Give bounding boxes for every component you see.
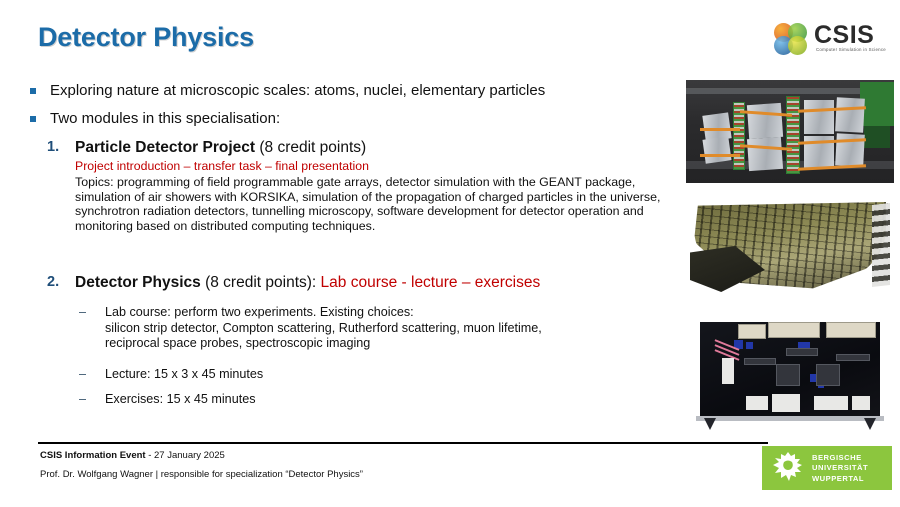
module-credits: (8 credit points) bbox=[255, 139, 366, 156]
dash-bullet-icon: – bbox=[79, 305, 86, 321]
photo-vme-board bbox=[686, 312, 894, 430]
sub-item-line: Exercises: 15 x 45 minutes bbox=[105, 392, 505, 408]
dash-bullet-icon: – bbox=[79, 392, 86, 408]
square-bullet-icon bbox=[30, 116, 36, 122]
footer-event-date: - 27 January 2025 bbox=[146, 450, 225, 461]
module-item-1: 1. Particle Detector Project (8 credit p… bbox=[75, 139, 690, 233]
buw-logo: BERGISCHE UNIVERSITÄT WUPPERTAL bbox=[762, 446, 892, 490]
photo-detector-module bbox=[686, 80, 894, 183]
module-credits: (8 credit points): bbox=[201, 274, 321, 291]
csis-wordmark: CSIS bbox=[814, 21, 874, 50]
footer-line-1: CSIS Information Event - 27 January 2025 bbox=[40, 450, 225, 461]
page-title: Detector Physics bbox=[38, 22, 254, 53]
module-heading: Detector Physics (8 credit points): Lab … bbox=[75, 274, 690, 292]
module-heading: Particle Detector Project (8 credit poin… bbox=[75, 139, 690, 157]
sub-item-line: Lecture: 15 x 3 x 45 minutes bbox=[105, 367, 505, 383]
footer-event-name: CSIS Information Event bbox=[40, 450, 146, 461]
square-bullet-icon bbox=[30, 88, 36, 94]
footer-divider bbox=[38, 442, 768, 444]
module-name: Particle Detector Project bbox=[75, 139, 255, 156]
sub-item-exercises: – Exercises: 15 x 45 minutes bbox=[105, 392, 505, 408]
buw-line-2: UNIVERSITÄT bbox=[812, 463, 868, 473]
bullet-text: Two modules in this specialisation: bbox=[50, 110, 280, 127]
module-subtitle: Project introduction – transfer task – f… bbox=[75, 159, 690, 173]
module-highlight: Lab course - lecture – exercises bbox=[321, 274, 541, 291]
buw-line-1: BERGISCHE bbox=[812, 453, 868, 463]
buw-wordmark: BERGISCHE UNIVERSITÄT WUPPERTAL bbox=[812, 453, 868, 484]
sub-item-lecture: – Lecture: 15 x 3 x 45 minutes bbox=[105, 367, 505, 383]
csis-circles-icon bbox=[774, 23, 810, 57]
module-number: 1. bbox=[47, 139, 59, 155]
csis-logo: CSIS Computer Simulation in Science bbox=[772, 20, 892, 62]
lion-emblem-icon bbox=[770, 451, 806, 485]
slide: Detector Physics CSIS Computer Simulatio… bbox=[0, 0, 900, 507]
sub-item-line: reciprocal space probes, spectroscopic i… bbox=[105, 336, 665, 352]
footer-line-2: Prof. Dr. Wolfgang Wagner | responsible … bbox=[40, 469, 363, 480]
sub-item-lab-course: – Lab course: perform two experiments. E… bbox=[105, 305, 665, 352]
sub-item-line: silicon strip detector, Compton scatteri… bbox=[105, 321, 665, 337]
bullet-item-1: Exploring nature at microscopic scales: … bbox=[50, 82, 545, 99]
dash-bullet-icon: – bbox=[79, 367, 86, 383]
photo-detector-barrel bbox=[686, 196, 894, 299]
module-item-2: 2. Detector Physics (8 credit points): L… bbox=[75, 274, 690, 292]
bullet-item-2: Two modules in this specialisation: bbox=[50, 110, 280, 127]
bullet-text: Exploring nature at microscopic scales: … bbox=[50, 82, 545, 99]
module-paragraph: Topics: programming of field programmabl… bbox=[75, 175, 675, 233]
module-number: 2. bbox=[47, 274, 59, 290]
sub-item-line: Lab course: perform two experiments. Exi… bbox=[105, 305, 665, 321]
module-name: Detector Physics bbox=[75, 274, 201, 291]
buw-line-3: WUPPERTAL bbox=[812, 474, 868, 484]
csis-tagline: Computer Simulation in Science bbox=[816, 47, 886, 52]
